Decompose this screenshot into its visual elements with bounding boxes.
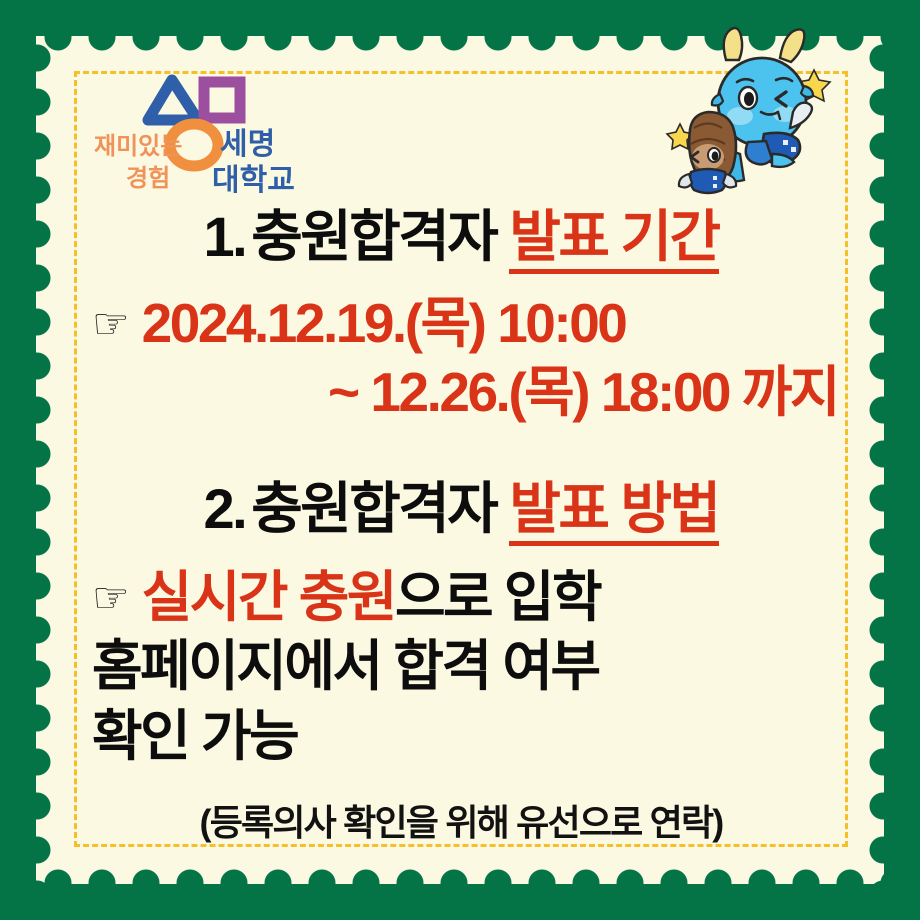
footnote: (등록의사 확인을 위해 유선으로 연락) xyxy=(74,794,848,846)
mascot-group xyxy=(664,24,844,199)
pointing-hand-icon-1: ☞ xyxy=(92,303,130,345)
poster-canvas: 재미있는 경험 세명 대학교 xyxy=(0,0,920,920)
section-2-method-line3: 확인 가능 xyxy=(92,705,297,767)
logo-tagline-line1: 재미있는 xyxy=(94,133,182,160)
section-2-number: 2. xyxy=(203,477,245,540)
logo-name-line1: 세명 xyxy=(220,128,275,161)
section-2-method-line2: 홈페이지에서 합격 여부 xyxy=(92,635,599,697)
pointing-hand-icon-2: ☞ xyxy=(92,577,130,619)
section-2-line-2: 홈페이지에서 합격 여부 xyxy=(74,631,848,703)
section-1-date-end: ~ 12.26.(목) 18:00 까지 xyxy=(328,361,838,423)
section-2-heading: 2.충원합격자 발표 방법 xyxy=(74,477,848,542)
section-1-line-2: ~ 12.26.(목) 18:00 까지 xyxy=(74,357,848,429)
section-2-line-3: 확인 가능 xyxy=(74,701,848,773)
section-2-line-1: ☞실시간 충원으로 입학 xyxy=(74,562,848,634)
section-2-title-plain: 충원합격자 xyxy=(251,477,496,540)
section-1-number: 1. xyxy=(203,205,245,268)
section-2-method-rest: 으로 입학 xyxy=(395,566,600,628)
section-2-method-emphasis: 실시간 충원 xyxy=(142,566,395,628)
logo-name-line2: 대학교 xyxy=(212,164,295,197)
section-1-heading: 1.충원합격자 발표 기간 xyxy=(74,205,848,270)
section-1-title-plain: 충원합격자 xyxy=(251,205,496,268)
section-1-date-start: 2024.12.19.(목) 10:00 xyxy=(142,292,626,354)
university-logo: 재미있는 경험 세명 대학교 xyxy=(86,62,336,197)
section-2-title-highlight: 발표 방법 xyxy=(509,477,718,546)
section-1-title-highlight: 발표 기간 xyxy=(509,205,718,274)
brown-pinecone-mascot xyxy=(679,112,736,193)
section-1-line-1: ☞2024.12.19.(목) 10:00 xyxy=(74,288,848,360)
logo-tagline-line2: 경험 xyxy=(126,165,170,192)
announcement-content: 1.충원합격자 발표 기간 ☞2024.12.19.(목) 10:00 ~ 12… xyxy=(74,205,848,846)
